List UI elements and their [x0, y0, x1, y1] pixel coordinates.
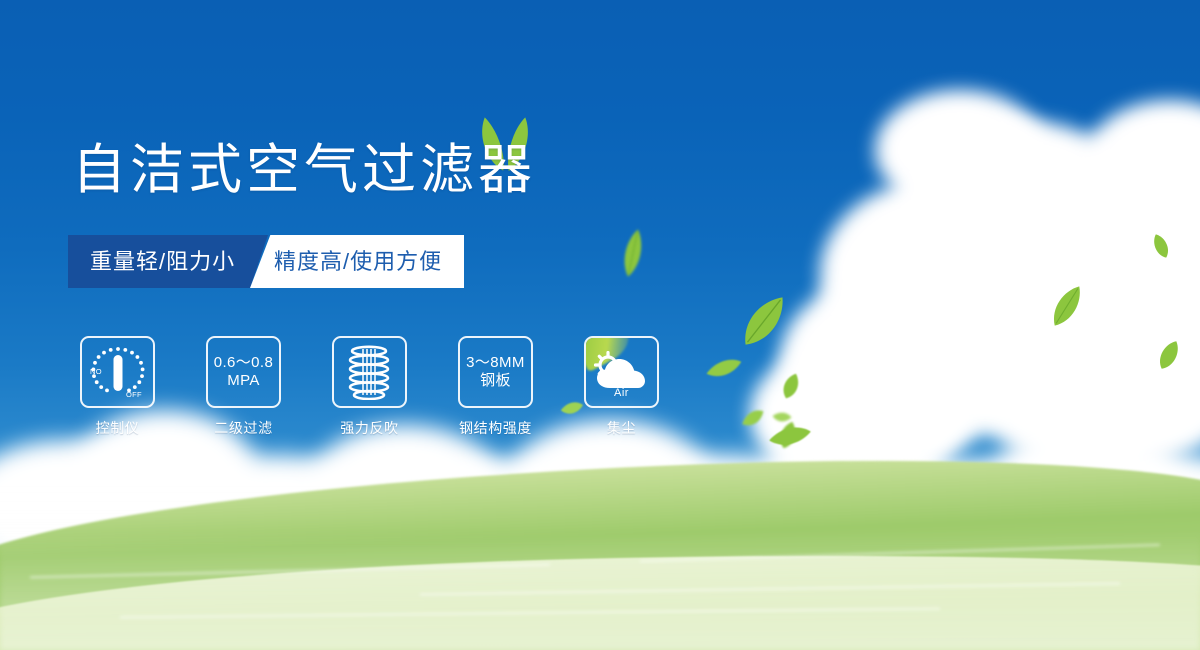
air-cloud-icon: Air	[584, 336, 659, 408]
grass-field	[0, 440, 1200, 650]
feature-item-pressure[interactable]: 0.6～0.8 MPA 二级过滤	[206, 336, 281, 438]
svg-text:OFF: OFF	[126, 390, 142, 399]
steel-plate-text-icon: 3～8MM 钢板	[458, 336, 533, 408]
cloud-right	[780, 90, 1200, 490]
product-banner: 自洁式空气过滤器 重量轻/阻力小 精度高/使用方便	[0, 0, 1200, 650]
feature-label: 集尘	[584, 418, 659, 438]
feature-box-text: 0.6～0.8 MPA	[214, 354, 274, 390]
pressure-text-icon: 0.6～0.8 MPA	[206, 336, 281, 408]
leaf-icon	[737, 403, 770, 433]
leaf-icon	[1040, 277, 1094, 336]
feature-box-text: 3～8MM 钢板	[466, 354, 525, 390]
leaf-icon	[1147, 230, 1175, 263]
feature-label: 强力反吹	[332, 418, 407, 438]
feature-item-control-dial[interactable]: NO OFF 控制仪	[80, 336, 155, 438]
filter-discs-icon	[332, 336, 407, 408]
leaf-icon	[702, 350, 746, 386]
page-title: 自洁式空气过滤器	[72, 143, 536, 197]
air-label: Air	[586, 387, 657, 399]
leaf-icon	[1151, 335, 1186, 375]
feature-label: 二级过滤	[206, 418, 281, 438]
svg-text:NO: NO	[90, 367, 102, 376]
ribbon-left-text: 重量轻/阻力小	[90, 235, 235, 288]
feature-item-backblow[interactable]: 强力反吹	[332, 336, 407, 438]
leaf-icon	[771, 409, 792, 425]
ribbon-right-text: 精度高/使用方便	[274, 235, 442, 288]
leaf-icon	[615, 226, 651, 280]
leaf-icon	[726, 282, 802, 360]
leaf-icon	[776, 369, 807, 403]
feature-item-dust-collection[interactable]: Air 集尘	[584, 336, 659, 438]
feature-item-steel-strength[interactable]: 3～8MM 钢板 钢结构强度	[458, 336, 533, 438]
subtitle-ribbon: 重量轻/阻力小 精度高/使用方便	[68, 235, 464, 288]
feature-label: 控制仪	[80, 418, 155, 438]
feature-label: 钢结构强度	[458, 418, 533, 438]
gauge-dial-icon: NO OFF	[80, 336, 155, 408]
feature-list: NO OFF 控制仪 0.6～0.8 MPA 二级过滤	[80, 336, 659, 438]
